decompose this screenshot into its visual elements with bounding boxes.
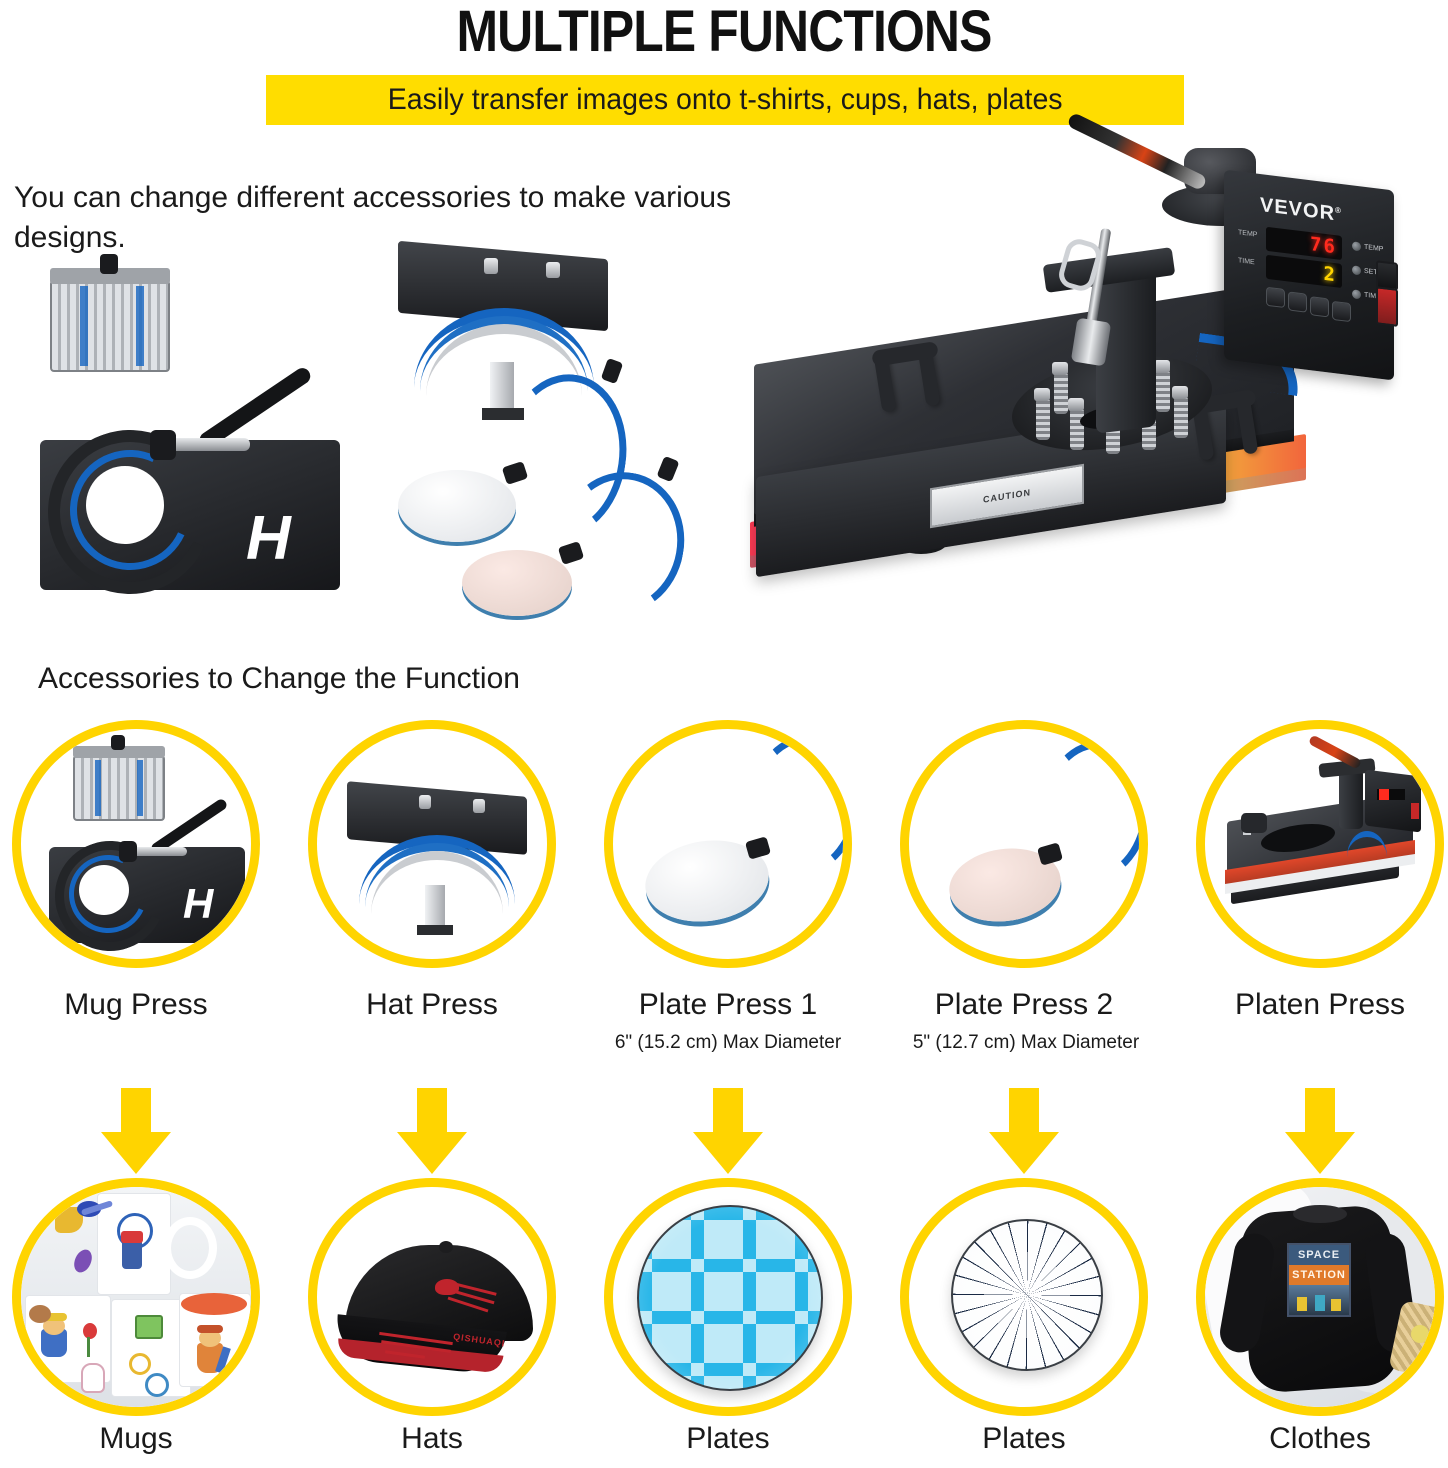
panel-button-2[interactable]: [1288, 291, 1307, 312]
time-indicator-led: [1352, 289, 1361, 299]
accessory-circle-hat-press[interactable]: [308, 720, 556, 968]
output-circle-plates-2[interactable]: [900, 1178, 1148, 1416]
clothes-photo: SPACE STATION: [1205, 1187, 1435, 1407]
arrow-down-icon: [1285, 1088, 1355, 1174]
output-label-clothes: Clothes: [1196, 1422, 1444, 1456]
mug-press-logo: H: [246, 508, 291, 570]
subtitle-banner: Easily transfer images onto t-shirts, cu…: [266, 75, 1184, 125]
mug-heater-element: [50, 280, 170, 372]
arrow-down-icon: [101, 1088, 171, 1174]
plate-press-2-illustration: [462, 550, 722, 630]
output-circle-plates-1[interactable]: [604, 1178, 852, 1416]
accessory-label-plate-press-1: Plate Press 1: [604, 988, 852, 1022]
mug-press-illustration: H: [40, 280, 380, 640]
plates-checker-photo: [637, 1205, 823, 1391]
panel-button-1[interactable]: [1266, 287, 1285, 308]
accessory-circle-mug-press[interactable]: H: [12, 720, 260, 968]
accessory-sub-plate-press-2: 5" (12.7 cm) Max Diameter: [876, 1032, 1176, 1054]
main-heat-press-illustration: CAUTION VEVOR® TEMP 76 TIME 2 TEMP SET: [744, 140, 1444, 700]
arrow-down-icon: [989, 1088, 1059, 1174]
mug-press-icon: H: [49, 755, 249, 955]
output-label-hats: Hats: [308, 1422, 556, 1456]
arrow-down-icon: [693, 1088, 763, 1174]
output-circle-mugs[interactable]: [12, 1178, 260, 1416]
temp-indicator-label: TEMP: [1364, 244, 1383, 253]
output-label-plates-1: Plates: [604, 1422, 852, 1456]
panel-button-4[interactable]: [1332, 301, 1351, 322]
time-display-label: TIME: [1238, 257, 1255, 266]
output-circle-hats[interactable]: QISHUAQI: [308, 1178, 556, 1416]
accessory-label-mug-press: Mug Press: [12, 988, 260, 1022]
temp-display-label: TEMP: [1238, 229, 1257, 238]
output-label-mugs: Mugs: [12, 1422, 260, 1456]
accessory-circle-platen-press[interactable]: [1196, 720, 1444, 968]
hat-press-icon: [347, 789, 537, 939]
accessory-label-platen-press: Platen Press: [1196, 988, 1444, 1022]
plates-radial-photo: [951, 1219, 1103, 1371]
page-subtitle: Easily transfer images onto t-shirts, cu…: [388, 83, 1063, 117]
accessories-heading: Accessories to Change the Function: [38, 662, 520, 696]
accessory-circle-plate-press-2[interactable]: [900, 720, 1148, 968]
brand-logo: VEVOR®: [1260, 194, 1342, 227]
accessory-label-hat-press: Hat Press: [308, 988, 556, 1022]
output-label-plates-2: Plates: [900, 1422, 1148, 1456]
accessory-circle-plate-press-1[interactable]: [604, 720, 852, 968]
set-indicator-led: [1352, 265, 1361, 275]
output-circle-clothes[interactable]: SPACE STATION: [1196, 1178, 1444, 1416]
time-display: 2: [1266, 255, 1342, 288]
mugs-photo: [21, 1187, 251, 1407]
page-title: MULTIPLE FUNCTIONS: [101, 0, 1346, 65]
accessory-label-plate-press-2: Plate Press 2: [900, 988, 1148, 1022]
accessory-sub-plate-press-1: 6" (15.2 cm) Max Diameter: [574, 1032, 882, 1054]
control-panel[interactable]: VEVOR® TEMP 76 TIME 2 TEMP SET TIME: [1224, 170, 1394, 381]
arrow-down-icon: [397, 1088, 467, 1174]
hats-photo: QISHUAQI: [317, 1187, 547, 1407]
platen-press-icon: [1219, 747, 1435, 959]
intro-text: You can change different accessories to …: [14, 178, 774, 258]
temp-display: 76: [1266, 227, 1342, 260]
panel-button-3[interactable]: [1310, 296, 1329, 317]
power-switch[interactable]: [1376, 286, 1398, 327]
plate-press-2-icon: [927, 729, 1139, 949]
plate-press-1-icon: [631, 729, 843, 949]
temp-indicator-led: [1352, 241, 1361, 251]
